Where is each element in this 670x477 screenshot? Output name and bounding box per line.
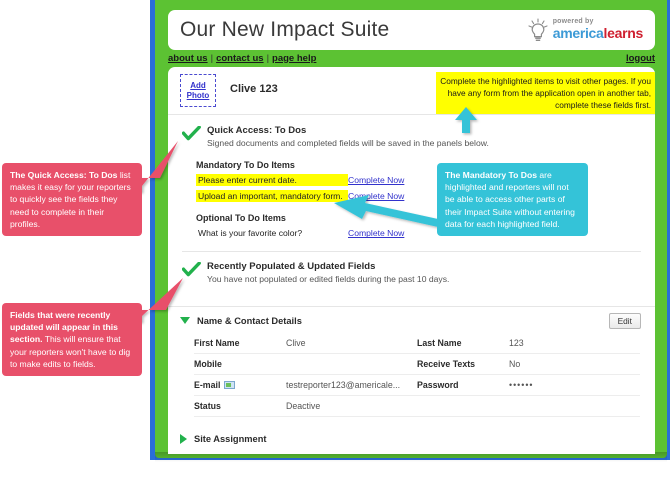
nav-strip: about us|contact us|page help logout xyxy=(168,51,655,65)
field-label: Password xyxy=(417,374,509,395)
field-value: Clive xyxy=(286,333,417,354)
field-value: Deactive xyxy=(286,395,417,416)
field-value xyxy=(286,353,417,374)
todo-text: Please enter current date. xyxy=(196,174,348,186)
recent-fields-panel: Recently Populated & Updated Fields You … xyxy=(168,252,655,295)
main-content-card: Add Photo Clive 123 Complete the highlig… xyxy=(168,67,655,454)
callout-recent-fields: Fields that were recently updated will a… xyxy=(2,303,142,376)
quick-access-subtitle: Signed documents and completed fields wi… xyxy=(207,138,489,150)
recent-fields-header: Recently Populated & Updated Fields You … xyxy=(182,261,641,286)
todo-text: What is your favorite color? xyxy=(196,227,348,239)
chevron-right-icon[interactable] xyxy=(180,434,187,444)
lightbulb-icon xyxy=(527,18,549,42)
name-contact-title: Name & Contact Details xyxy=(197,316,302,326)
highlight-notice: Complete the highlighted items to visit … xyxy=(436,72,655,114)
callout-title: The Mandatory To Dos xyxy=(445,170,537,180)
field-label xyxy=(417,395,509,416)
field-label: Mobile xyxy=(194,353,286,374)
nav-links: about us|contact us|page help xyxy=(168,53,316,64)
callout-quick-access: The Quick Access: To Dos list makes it e… xyxy=(2,163,142,236)
recent-fields-title: Recently Populated & Updated Fields xyxy=(207,261,449,273)
nav-separator-2: | xyxy=(264,53,272,64)
nav-separator-1: | xyxy=(208,53,216,64)
add-photo-line2: Photo xyxy=(187,91,210,100)
green-check-icon xyxy=(182,126,201,142)
add-photo-line1: Add xyxy=(190,81,206,90)
quick-access-title: Quick Access: To Dos xyxy=(207,125,489,137)
callout-title: The Quick Access: To Dos xyxy=(10,170,117,180)
complete-now-link[interactable]: Complete Now xyxy=(348,191,404,201)
table-row: First Name Clive Last Name 123 xyxy=(194,333,640,354)
add-photo-button[interactable]: Add Photo xyxy=(180,74,216,107)
brand-wordmark: powered by americalearns xyxy=(553,18,643,42)
field-value: No xyxy=(509,353,640,374)
field-label: Receive Texts xyxy=(417,353,509,374)
logout-link[interactable]: logout xyxy=(626,53,655,64)
brand-logo: powered by americalearns xyxy=(527,18,643,42)
screenshot-root: Our New Impact Suite powered xyxy=(0,0,670,477)
quick-access-header: Quick Access: To Dos Signed documents an… xyxy=(182,125,641,150)
field-value-password: •••••• xyxy=(509,374,640,395)
recent-fields-subtitle: You have not populated or edited fields … xyxy=(207,274,449,286)
table-row: E-mail testreporter123@americale... Pass… xyxy=(194,374,640,395)
profile-row: Add Photo Clive 123 Complete the highlig… xyxy=(168,67,655,115)
page-title: Our New Impact Suite xyxy=(180,18,389,42)
callout-mandatory-todos: The Mandatory To Dos are highlighted and… xyxy=(437,163,588,236)
table-row: Status Deactive xyxy=(194,395,640,416)
email-label-text: E-mail xyxy=(194,380,220,390)
mail-icon[interactable] xyxy=(224,381,235,389)
nav-link-about-us[interactable]: about us xyxy=(168,53,208,64)
complete-now-link[interactable]: Complete Now xyxy=(348,175,404,185)
app-header: Our New Impact Suite powered xyxy=(168,10,655,50)
nav-link-page-help[interactable]: page help xyxy=(272,53,316,64)
field-label: Last Name xyxy=(417,333,509,354)
complete-now-link[interactable]: Complete Now xyxy=(348,228,404,238)
field-label: Status xyxy=(194,395,286,416)
user-name: Clive 123 xyxy=(230,83,278,95)
field-value: 123 xyxy=(509,333,640,354)
brand-learns: learns xyxy=(604,25,643,41)
nav-link-contact-us[interactable]: contact us xyxy=(216,53,264,64)
field-value: testreporter123@americale... xyxy=(286,374,417,395)
field-value xyxy=(509,395,640,416)
name-contact-table: First Name Clive Last Name 123 Mobile Re… xyxy=(194,333,640,417)
field-label: First Name xyxy=(194,333,286,354)
name-contact-header[interactable]: Name & Contact Details Edit xyxy=(168,307,655,326)
table-row: Mobile Receive Texts No xyxy=(194,353,640,374)
green-check-icon xyxy=(182,262,201,278)
chevron-down-icon[interactable] xyxy=(180,317,190,324)
site-assignment-title: Site Assignment xyxy=(194,434,267,444)
site-assignment-header[interactable]: Site Assignment xyxy=(168,417,655,444)
brand-america: america xyxy=(553,25,604,41)
field-label-email: E-mail xyxy=(194,374,286,395)
edit-button[interactable]: Edit xyxy=(609,313,641,329)
todo-text: Upload an important, mandatory form. xyxy=(196,190,348,202)
powered-by-label: powered by xyxy=(553,18,643,25)
